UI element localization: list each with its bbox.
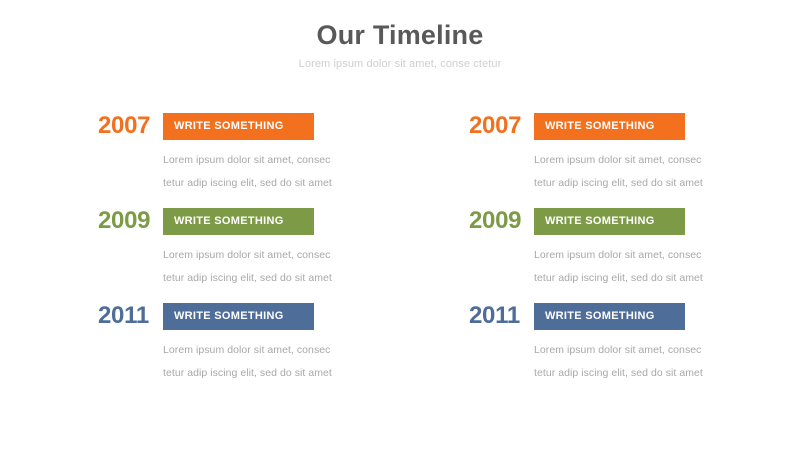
- entry-header: 2011 WRITE SOMETHING: [98, 302, 429, 330]
- entry-description-line: Lorem ipsum dolor sit amet, consec: [534, 149, 800, 172]
- right-column: 2007 WRITE SOMETHING Lorem ipsum dolor s…: [429, 112, 800, 397]
- entry-description: Lorem ipsum dolor sit amet, consec tetur…: [534, 339, 800, 385]
- left-column: 2007 WRITE SOMETHING Lorem ipsum dolor s…: [0, 112, 429, 397]
- entry-header: 2009 WRITE SOMETHING: [98, 207, 429, 235]
- slide-header: Our Timeline Lorem ipsum dolor sit amet,…: [0, 18, 800, 72]
- entry-description-line: tetur adip iscing elit, sed do sit amet: [163, 267, 429, 290]
- entry-description-line: tetur adip iscing elit, sed do sit amet: [534, 267, 800, 290]
- entry-bar-label: WRITE SOMETHING: [545, 310, 655, 323]
- entry-description-line: tetur adip iscing elit, sed do sit amet: [534, 362, 800, 385]
- entry-description-line: tetur adip iscing elit, sed do sit amet: [534, 172, 800, 195]
- entry-description-line: Lorem ipsum dolor sit amet, consec: [163, 244, 429, 267]
- timeline-entry[interactable]: 2007 WRITE SOMETHING Lorem ipsum dolor s…: [98, 112, 429, 207]
- entry-description: Lorem ipsum dolor sit amet, consec tetur…: [163, 244, 429, 290]
- timeline-entry[interactable]: 2011 WRITE SOMETHING Lorem ipsum dolor s…: [469, 302, 800, 397]
- entry-bar[interactable]: WRITE SOMETHING: [163, 113, 314, 140]
- entry-description-line: tetur adip iscing elit, sed do sit amet: [163, 362, 429, 385]
- page-title: Our Timeline: [0, 18, 800, 52]
- entry-description: Lorem ipsum dolor sit amet, consec tetur…: [163, 149, 429, 195]
- timeline-entry[interactable]: 2009 WRITE SOMETHING Lorem ipsum dolor s…: [98, 207, 429, 302]
- entry-bar-label: WRITE SOMETHING: [174, 120, 284, 133]
- entry-year: 2007: [98, 112, 163, 140]
- timeline-entry[interactable]: 2011 WRITE SOMETHING Lorem ipsum dolor s…: [98, 302, 429, 397]
- entry-year: 2009: [469, 207, 534, 235]
- entry-description-line: Lorem ipsum dolor sit amet, consec: [163, 339, 429, 362]
- entry-year: 2011: [98, 302, 163, 330]
- entry-description-line: Lorem ipsum dolor sit amet, consec: [534, 244, 800, 267]
- entry-bar[interactable]: WRITE SOMETHING: [534, 208, 685, 235]
- entry-header: 2007 WRITE SOMETHING: [469, 112, 800, 140]
- entry-bar[interactable]: WRITE SOMETHING: [163, 303, 314, 330]
- entry-header: 2007 WRITE SOMETHING: [98, 112, 429, 140]
- entry-year: 2009: [98, 207, 163, 235]
- entry-description: Lorem ipsum dolor sit amet, consec tetur…: [163, 339, 429, 385]
- timeline-slide: Our Timeline Lorem ipsum dolor sit amet,…: [0, 0, 800, 450]
- entry-bar-label: WRITE SOMETHING: [174, 310, 284, 323]
- entry-header: 2011 WRITE SOMETHING: [469, 302, 800, 330]
- entry-bar-label: WRITE SOMETHING: [545, 120, 655, 133]
- entry-bar[interactable]: WRITE SOMETHING: [534, 303, 685, 330]
- entry-description-line: Lorem ipsum dolor sit amet, consec: [163, 149, 429, 172]
- entry-bar[interactable]: WRITE SOMETHING: [534, 113, 685, 140]
- entry-description-line: Lorem ipsum dolor sit amet, consec: [534, 339, 800, 362]
- timeline-entry[interactable]: 2009 WRITE SOMETHING Lorem ipsum dolor s…: [469, 207, 800, 302]
- entry-description-line: tetur adip iscing elit, sed do sit amet: [163, 172, 429, 195]
- entry-bar-label: WRITE SOMETHING: [545, 215, 655, 228]
- timeline-entry[interactable]: 2007 WRITE SOMETHING Lorem ipsum dolor s…: [469, 112, 800, 207]
- entry-header: 2009 WRITE SOMETHING: [469, 207, 800, 235]
- entry-description: Lorem ipsum dolor sit amet, consec tetur…: [534, 149, 800, 195]
- entry-year: 2007: [469, 112, 534, 140]
- entry-description: Lorem ipsum dolor sit amet, consec tetur…: [534, 244, 800, 290]
- timeline-columns: 2007 WRITE SOMETHING Lorem ipsum dolor s…: [0, 112, 800, 397]
- entry-bar[interactable]: WRITE SOMETHING: [163, 208, 314, 235]
- entry-bar-label: WRITE SOMETHING: [174, 215, 284, 228]
- entry-year: 2011: [469, 302, 534, 330]
- page-subtitle: Lorem ipsum dolor sit amet, conse ctetur: [0, 56, 800, 72]
